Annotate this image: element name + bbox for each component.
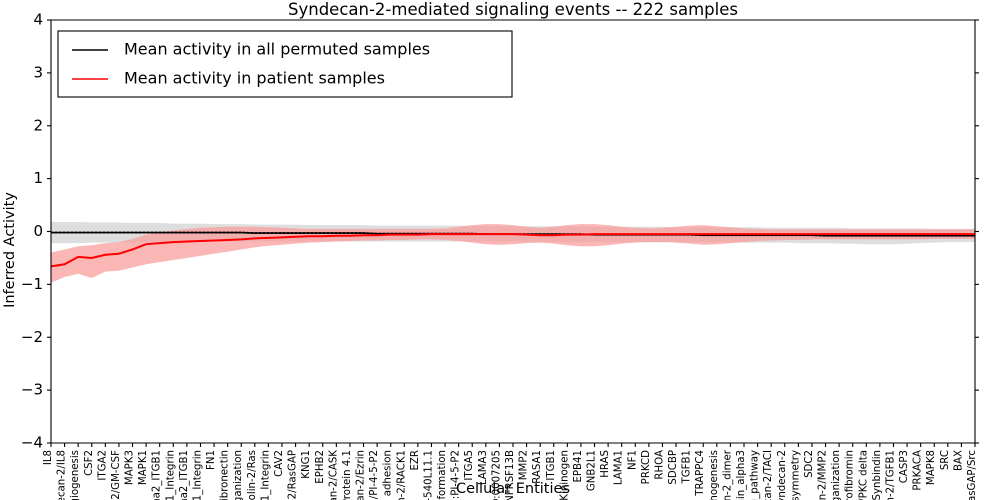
y-tick-label: 2 (33, 116, 43, 134)
chart-svg: −4−3−2−101234 IL8Syndecan-2/IL8angiogene… (0, 0, 1000, 500)
x-tick-label: TRAPPC4 (695, 450, 706, 497)
x-tick-label: SDCBP (668, 450, 679, 485)
x-tick-label: RASA1 (532, 450, 543, 484)
x-tick-label: Syndecan-2/Ezrin (356, 450, 367, 500)
x-tick-label: Syndecan-2/Neurofibromin (845, 450, 856, 500)
x-tick-label: CAV2 (274, 450, 285, 477)
x-tick-label: MAPK8 (926, 450, 937, 485)
x-tick-label: KNG1 (301, 450, 312, 479)
x-tick-label: alpha2_ITGB1 (152, 450, 163, 500)
x-tick-label: BAX (953, 450, 964, 471)
x-tick-label: Syndecan-2_dimer (722, 449, 733, 500)
x-tick-label: Syndecan-2/alpha2_ITGB1 (179, 450, 190, 500)
x-tick-label: NF1 (627, 450, 638, 470)
x-tick-label: Syndecan-2/Synbindin (872, 450, 883, 500)
x-tick-label: Syndecan-2/MMP2 (818, 450, 829, 500)
y-tick-label: 0 (33, 222, 43, 240)
x-tick-label: Syndecan-2/TACI (763, 450, 774, 500)
x-tick-label: Syndecan-2/alpha2/beta1_Integrin (192, 450, 203, 500)
x-tick-label: Syndecan-2/TGFB1 (885, 450, 896, 500)
x-tick-label: MMP2 (519, 450, 530, 480)
x-tick-label: TGFB1 (682, 450, 693, 484)
x-tick-label: Syndecan-2/RasGAP/Src (967, 450, 978, 500)
x-tick-label: ITGB1 (546, 450, 557, 481)
x-tick-label: Syndecan-2/Laminin_alpha3 (736, 450, 747, 500)
y-axis-title: Inferred Activity (2, 192, 18, 308)
x-tick-label: RHOA (654, 450, 665, 480)
x-tick-label: determination of left/right symmetry (790, 450, 801, 500)
legend-label-0[interactable]: Mean activity in all permuted samples (124, 40, 430, 59)
x-axis-title: Cellular Entities (456, 481, 570, 497)
x-tick-label: Syndecan-2/Fibronectin (220, 450, 231, 500)
x-tick-label: FGFR/FGF/Syndecan-2 (777, 450, 788, 500)
x-tick-label: angiogenesis (70, 450, 81, 500)
figure-canvas: −4−3−2−101234 IL8Syndecan-2/IL8angiogene… (0, 0, 1000, 500)
x-tick-label: positive regulation of cell-cell adhesio… (383, 450, 394, 500)
x-tick-label: SRC (940, 450, 951, 470)
x-tick-label: IL8 (43, 450, 54, 465)
x-tick-label: EZR (410, 450, 421, 471)
x-tick-label: EPHB2 (315, 450, 326, 484)
x-tick-label: PRKCD (641, 450, 652, 484)
y-tick-label: −1 (21, 275, 43, 293)
x-tick-label: extracellular matrix organization (831, 450, 842, 500)
x-tick-label: DNA mediated transformation (437, 450, 448, 500)
x-tick-label: LAMA3 (478, 450, 489, 485)
x-tick-label: HRAS (600, 450, 611, 478)
x-tick-label: GNB2L1 (587, 450, 598, 491)
y-tick-label: −2 (21, 328, 43, 346)
x-tick-label: Syndecan-2/GM-CSF (111, 450, 122, 500)
x-tick-label: LAMA1 (614, 450, 625, 485)
legend[interactable]: Mean activity in all permuted samplesMea… (58, 31, 512, 97)
y-tick-label: 4 (33, 11, 43, 29)
x-tick-label: alpha5/beta1_Integrin (260, 450, 271, 500)
x-tick-label: MAPK3 (125, 450, 136, 485)
y-tick-label: 3 (33, 63, 43, 81)
y-tick-label: 1 (33, 169, 43, 187)
x-tick-label: Syndecan-2/Caveolin-2/Ras (247, 450, 258, 500)
y-tick-label: −3 (21, 381, 43, 399)
y-tick-label: −4 (21, 434, 43, 452)
x-tick-label: ITGA2 (97, 450, 108, 481)
x-tick-label: Syndecan-2/Syntenin/PI-4-5-P2 (369, 450, 380, 500)
x-tick-label: Syndecan-2/RasGAP (288, 450, 299, 500)
x-tick-label: dendrite morphogenesis (709, 450, 720, 500)
x-tick-label: Syndecan-2/IL8 (57, 450, 68, 500)
page-title: Syndecan-2-mediated signaling events -- … (288, 0, 738, 19)
legend-label-1[interactable]: Mean activity in patient samples (124, 69, 385, 88)
x-tick-label: Syndecan-2/CASK (328, 450, 339, 500)
x-tick-label: calcineurin-NFAT_signaling_pathway (750, 450, 761, 500)
x-tick-label: Syndecan-2/CASK/Protein 4.1 (342, 450, 353, 500)
x-tick-label: CSF2 (84, 450, 95, 476)
x-tick-label: PRKACA (913, 450, 924, 491)
x-tick-label: alpha2/beta1_Integrin (165, 450, 176, 500)
x-tick-label: EPB41 (573, 450, 584, 483)
x-tick-label: SDC2 (804, 450, 815, 478)
x-tick-label: actin cytoskeleton reorganization (233, 450, 244, 500)
x-tick-label: CASP3 (899, 450, 910, 483)
x-tick-label: Syndecan-2/PKC delta (858, 450, 869, 500)
x-tick-label: Syndecan-2/RACK1 (396, 450, 407, 500)
x-tick-label: ITGA5 (464, 450, 475, 481)
x-tick-label: RP11-540L11.1 (423, 450, 434, 500)
x-tick-label: MAPK1 (138, 450, 149, 485)
x-tick-label: FN1 (206, 450, 217, 470)
